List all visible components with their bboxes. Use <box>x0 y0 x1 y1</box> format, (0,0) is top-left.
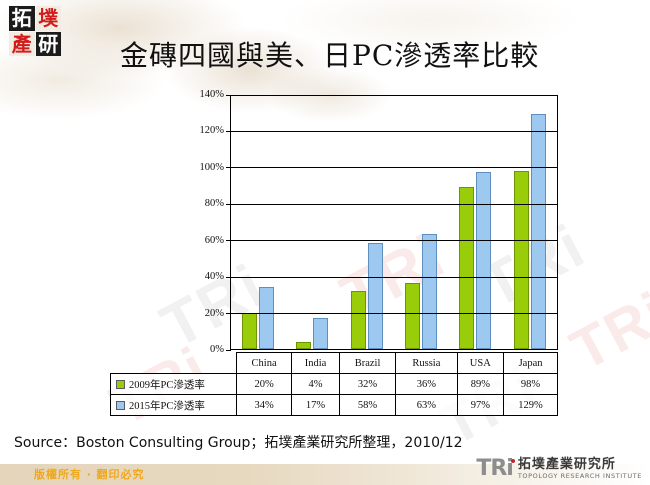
y-axis-tick-label: 60% <box>176 236 224 246</box>
table-value-cell: 20% <box>237 374 292 395</box>
copyright-notice: 版權所有 ‧ 翻印必究 <box>34 466 145 482</box>
y-axis-tick-mark <box>226 95 231 96</box>
logo-tile-3: 產 <box>9 32 35 57</box>
logo-tile-2: 墣 <box>36 6 62 31</box>
bar-brazil-2009 <box>351 291 366 349</box>
bar-group-china <box>231 96 285 349</box>
y-axis-tick-mark <box>226 131 231 132</box>
plot-area <box>230 95 558 350</box>
y-axis-labels: 0%20%40%60%80%100%120%140% <box>176 88 224 350</box>
table-value-cell: 36% <box>396 374 457 395</box>
bar-india-2009 <box>296 342 311 349</box>
gridline <box>231 240 557 241</box>
tri-wordmark: TRi <box>476 458 513 480</box>
y-axis-tick-mark <box>226 167 231 168</box>
table-row: 2009年PC滲透率20%4%32%36%89%98% <box>111 374 558 395</box>
legend-swatch-icon <box>116 380 125 389</box>
y-axis-tick-label: 100% <box>176 163 224 173</box>
gridline <box>231 204 557 205</box>
bar-group-russia <box>394 96 448 349</box>
bar-russia-2009 <box>405 283 420 349</box>
y-axis-tick-label: 120% <box>176 126 224 136</box>
gridline <box>231 167 557 168</box>
table-col-header: Japan <box>504 353 558 374</box>
bar-china-2009 <box>242 313 257 349</box>
gridline <box>231 313 557 314</box>
bar-group-japan <box>503 96 557 349</box>
bar-group-usa <box>448 96 502 349</box>
table-row: 2015年PC滲透率34%17%58%63%97%129% <box>111 395 558 416</box>
logo-tile-1: 拓 <box>9 6 35 31</box>
tri-wordmark-text: TRi <box>476 456 513 481</box>
bar-usa-2009 <box>459 187 474 349</box>
table-value-cell: 129% <box>504 395 558 416</box>
bar-group-brazil <box>340 96 394 349</box>
bar-chart: 0%20%40%60%80%100%120%140% <box>0 88 650 358</box>
footer-brand-cn: 拓墣產業研究所 <box>518 458 642 472</box>
table-corner-cell <box>111 353 237 374</box>
y-axis-tick-label: 80% <box>176 199 224 209</box>
tri-corner-logo: 拓 墣 產 研 <box>9 6 61 56</box>
table-col-header: Brazil <box>339 353 395 374</box>
y-axis-tick-mark <box>226 204 231 205</box>
y-axis-tick-mark <box>226 240 231 241</box>
table-col-header: Russia <box>396 353 457 374</box>
bar-india-2015 <box>313 318 328 349</box>
bar-japan-2009 <box>514 171 529 350</box>
tri-accent-dot <box>511 459 515 463</box>
table-header-row: ChinaIndiaBrazilRussiaUSAJapan <box>111 353 558 374</box>
bar-group-india <box>285 96 339 349</box>
y-axis-tick-label: 40% <box>176 272 224 282</box>
gridline <box>231 131 557 132</box>
table-value-cell: 98% <box>504 374 558 395</box>
y-axis-tick-mark <box>226 277 231 278</box>
bar-china-2015 <box>259 287 274 349</box>
table-value-cell: 17% <box>292 395 340 416</box>
slide-canvas: TRi TRi TRi TRi TRi TRi 拓 墣 產 研 金磚四國與美、日… <box>0 0 650 485</box>
data-table: ChinaIndiaBrazilRussiaUSAJapan 2009年PC滲透… <box>110 352 558 416</box>
y-axis-tick-mark <box>226 313 231 314</box>
table-value-cell: 63% <box>396 395 457 416</box>
logo-tile-4: 研 <box>36 32 62 57</box>
footer-brand-names: 拓墣產業研究所 TOPOLOGY RESEARCH INSTITUTE <box>518 458 642 480</box>
gridline <box>231 277 557 278</box>
table-body: 2009年PC滲透率20%4%32%36%89%98%2015年PC滲透率34%… <box>111 374 558 416</box>
legend-swatch-icon <box>116 401 125 410</box>
bar-series-container <box>231 96 557 349</box>
y-axis-tick-mark <box>226 350 231 351</box>
page-title: 金磚四國與美、日PC滲透率比較 <box>120 36 620 76</box>
bar-brazil-2015 <box>368 243 383 349</box>
table-value-cell: 58% <box>339 395 395 416</box>
table-value-cell: 4% <box>292 374 340 395</box>
bar-usa-2015 <box>476 172 491 349</box>
table-col-header: USA <box>457 353 504 374</box>
table-value-cell: 89% <box>457 374 504 395</box>
source-note: Source：Boston Consulting Group；拓墣產業研究所整理… <box>14 432 463 452</box>
bar-russia-2015 <box>422 234 437 349</box>
legend-cell: 2009年PC滲透率 <box>111 374 237 395</box>
footer-brand-en: TOPOLOGY RESEARCH INSTITUTE <box>518 472 642 480</box>
y-axis-tick-label: 140% <box>176 90 224 100</box>
table-value-cell: 34% <box>237 395 292 416</box>
table-value-cell: 32% <box>339 374 395 395</box>
y-axis-tick-label: 20% <box>176 309 224 319</box>
table-value-cell: 97% <box>457 395 504 416</box>
table-col-header: China <box>237 353 292 374</box>
legend-label: 2009年PC滲透率 <box>129 380 205 391</box>
footer-brand-logo: TRi 拓墣產業研究所 TOPOLOGY RESEARCH INSTITUTE <box>476 458 642 480</box>
table-col-header: India <box>292 353 340 374</box>
legend-label: 2015年PC滲透率 <box>129 401 205 412</box>
legend-cell: 2015年PC滲透率 <box>111 395 237 416</box>
